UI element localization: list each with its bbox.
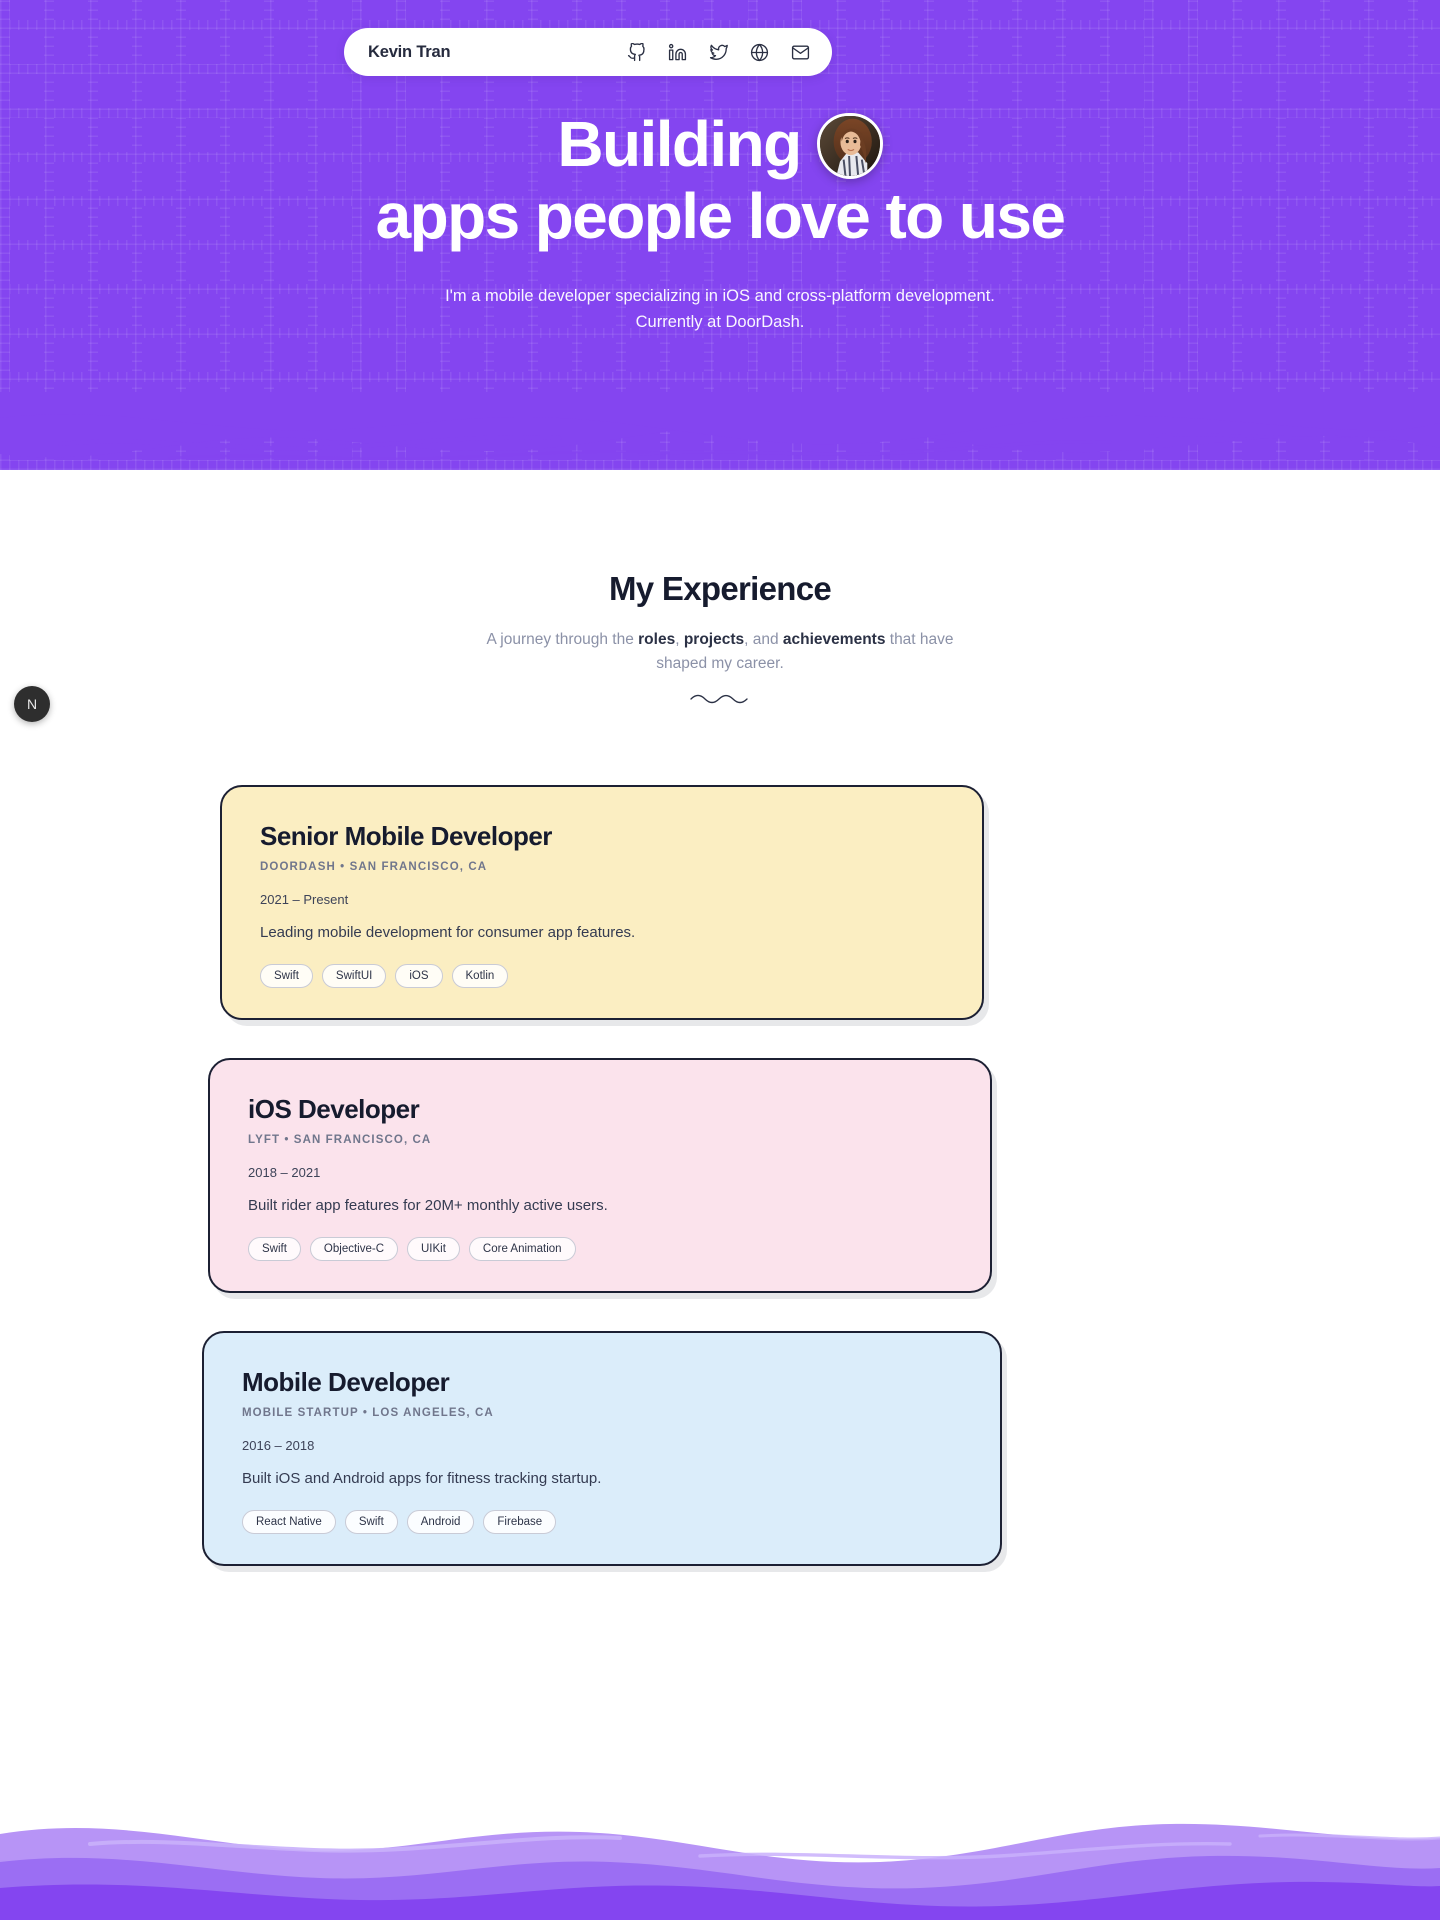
card-tag-list: Swift Objective-C UIKit Core Animation	[248, 1237, 952, 1261]
card-description: Leading mobile development for consumer …	[260, 922, 944, 944]
hero-wave-divider	[0, 392, 1440, 470]
globe-icon[interactable]	[750, 43, 769, 62]
card-title: iOS Developer	[248, 1094, 952, 1125]
card-tag[interactable]: Swift	[248, 1237, 301, 1261]
hero-section: Building	[0, 0, 1440, 470]
desc-text-1: A journey through the	[486, 631, 638, 648]
desc-text-3: , and	[744, 631, 783, 648]
desc-bold-projects: projects	[684, 631, 744, 648]
card-tag-list: React Native Swift Android Firebase	[242, 1510, 962, 1534]
card-tag[interactable]: iOS	[395, 964, 442, 988]
squiggle-divider	[689, 691, 751, 705]
card-title: Mobile Developer	[242, 1367, 962, 1398]
card-tag[interactable]: Objective-C	[310, 1237, 398, 1261]
headline-line-1: Building	[0, 108, 1440, 180]
card-tag-list: Swift SwiftUI iOS Kotlin	[260, 964, 944, 988]
mail-icon[interactable]	[791, 43, 810, 62]
nav-brand[interactable]: Kevin Tran	[368, 43, 627, 62]
experience-card-list: Senior Mobile Developer DOORDASH • SAN F…	[220, 785, 1220, 1566]
desc-bold-achievements: achievements	[783, 631, 886, 648]
card-company-location: LYFT • SAN FRANCISCO, CA	[248, 1134, 952, 1146]
avatar	[817, 113, 883, 179]
card-tag[interactable]: UIKit	[407, 1237, 460, 1261]
headline-line-2: apps people love to use	[0, 180, 1440, 252]
hero-subtitle-line-1: I'm a mobile developer specializing in i…	[0, 283, 1440, 310]
github-icon[interactable]	[627, 43, 646, 62]
linkedin-icon[interactable]	[668, 43, 687, 62]
page-title: My Experience	[0, 570, 1440, 608]
card-tag[interactable]: Firebase	[483, 1510, 556, 1534]
card-period: 2018 – 2021	[248, 1165, 952, 1180]
card-description: Built rider app features for 20M+ monthl…	[248, 1195, 952, 1217]
card-company-location: MOBILE STARTUP • LOS ANGELES, CA	[242, 1407, 962, 1419]
card-tag[interactable]: Kotlin	[452, 964, 509, 988]
avatar-image	[820, 116, 880, 176]
hero-headline: Building	[0, 108, 1440, 253]
floating-avatar-badge[interactable]: N	[14, 686, 50, 722]
hero-subtitle-line-2: Currently at DoorDash.	[0, 309, 1440, 336]
nav-social-icons	[627, 43, 810, 62]
card-period: 2016 – 2018	[242, 1438, 962, 1453]
headline-word-building: Building	[557, 108, 800, 180]
desc-text-2: ,	[675, 631, 684, 648]
desc-bold-roles: roles	[638, 631, 675, 648]
card-tag[interactable]: Android	[407, 1510, 475, 1534]
card-tag[interactable]: Swift	[345, 1510, 398, 1534]
card-tag[interactable]: Swift	[260, 964, 313, 988]
footer-wave-divider	[0, 1770, 1440, 1920]
card-tag[interactable]: Core Animation	[469, 1237, 576, 1261]
navbar: Kevin Tran	[344, 28, 832, 76]
card-tag[interactable]: SwiftUI	[322, 964, 386, 988]
card-company-location: DOORDASH • SAN FRANCISCO, CA	[260, 861, 944, 873]
card-tag[interactable]: React Native	[242, 1510, 336, 1534]
card-title: Senior Mobile Developer	[260, 821, 944, 852]
hero-subtitle: I'm a mobile developer specializing in i…	[0, 283, 1440, 336]
experience-section: My Experience A journey through the role…	[0, 470, 1440, 1566]
card-period: 2021 – Present	[260, 892, 944, 907]
headline-phrase: apps people love to use	[376, 180, 1065, 252]
card-description: Built iOS and Android apps for fitness t…	[242, 1468, 962, 1490]
experience-card[interactable]: Senior Mobile Developer DOORDASH • SAN F…	[220, 785, 984, 1020]
experience-card[interactable]: Mobile Developer MOBILE STARTUP • LOS AN…	[202, 1331, 1002, 1566]
experience-description: A journey through the roles, projects, a…	[470, 628, 970, 677]
floating-avatar-badge-label: N	[27, 696, 37, 712]
experience-card[interactable]: iOS Developer LYFT • SAN FRANCISCO, CA 2…	[208, 1058, 992, 1293]
twitter-icon[interactable]	[709, 43, 728, 62]
footer-wave-section	[0, 1770, 1440, 1920]
